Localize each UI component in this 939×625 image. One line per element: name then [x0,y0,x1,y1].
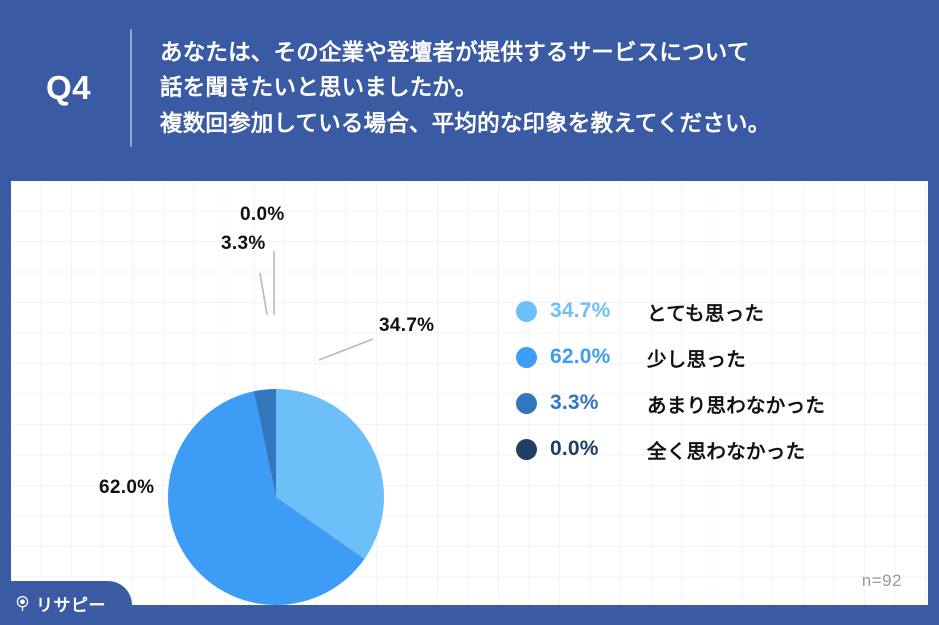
legend-item[interactable]: 62.0% 少し思った [516,334,916,380]
legend-color-swatch-icon [516,439,537,460]
brand-logo[interactable]: リサピー [0,581,132,625]
question-header: Q4 あなたは、その企業や登壇者が提供するサービスについて 話を聞きたいと思いま… [0,0,939,176]
pie-callout-value: 0.0% [240,204,285,226]
legend-percent: 34.7% [550,299,647,323]
pie-callout-value: 62.0% [99,477,154,499]
header-divider [130,29,132,147]
pie-callout-value: 34.7% [379,315,434,337]
legend-label: あまり思わなかった [647,389,825,418]
sample-size-label: n=92 [862,571,902,591]
legend-item[interactable]: 34.7% とても思った [516,288,916,334]
legend-percent: 3.3% [550,391,647,415]
pie-chart: 0.0% 3.3% 34.7% 62.0% [11,181,511,605]
legend-item[interactable]: 0.0% 全く思わなかった [516,426,916,472]
brand-logo-text: リサピー [36,591,106,616]
pie-slice-group [168,389,384,605]
microphone-icon [14,595,31,612]
question-text: あなたは、その企業や登壇者が提供するサービスについて 話を聞きたいと思いましたか… [160,35,770,142]
chart-card: 0.0% 3.3% 34.7% 62.0% 34.7% とても思った 62.0%… [11,181,928,605]
legend-label: 少し思った [647,343,746,372]
slide-root: Q4 あなたは、その企業や登壇者が提供するサービスについて 話を聞きたいと思いま… [0,0,939,625]
legend-percent: 62.0% [550,345,647,369]
legend-color-swatch-icon [516,301,537,322]
legend-color-swatch-icon [516,347,537,368]
leader-line-2 [319,339,373,360]
legend-label: とても思った [647,297,764,326]
leader-line-1 [260,273,267,315]
legend-label: 全く思わなかった [647,435,805,464]
legend-percent: 0.0% [550,437,647,461]
legend-item[interactable]: 3.3% あまり思わなかった [516,380,916,426]
question-number: Q4 [34,69,130,107]
legend-color-swatch-icon [516,393,537,414]
pie-callout-value: 3.3% [221,233,266,255]
chart-legend: 34.7% とても思った 62.0% 少し思った 3.3% あまり思わなかった … [516,288,916,472]
